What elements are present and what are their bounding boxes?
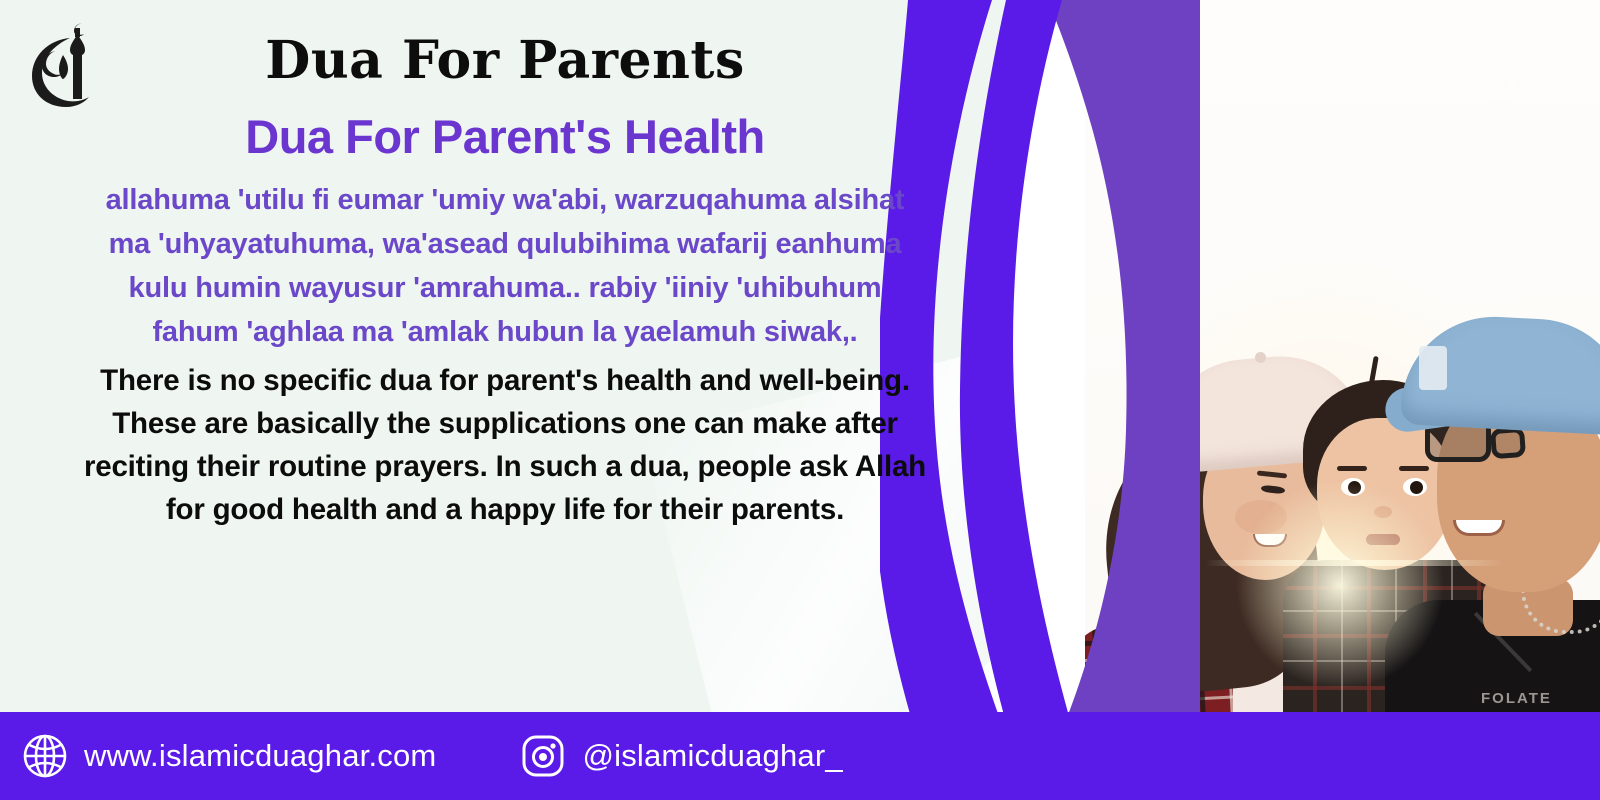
mother-cheek — [1235, 500, 1287, 534]
globe-icon — [22, 733, 68, 779]
section-heading: Dua For Parent's Health — [0, 109, 1010, 164]
child-eyebrow-left — [1337, 466, 1367, 471]
child-eyebrow-right — [1399, 466, 1429, 471]
crescent-minaret-watermark-icon — [1468, 26, 1532, 102]
child-mouth — [1366, 534, 1400, 545]
body-paragraph: There is no specific dua for parent's he… — [78, 360, 932, 531]
website-link[interactable]: www.islamicduaghar.com — [22, 733, 436, 779]
transliteration-text: allahuma 'utilu fi eumar 'umiy wa'abi, w… — [104, 178, 906, 354]
child-pupil-left — [1348, 481, 1361, 494]
instagram-label: @islamicduaghar_ — [582, 738, 842, 774]
dua-poster-card: FOLATE — [0, 0, 1600, 800]
mother-cap-button — [1255, 352, 1266, 363]
father-shirt-text: FOLATE — [1481, 690, 1552, 707]
instagram-link[interactable]: @islamicduaghar_ — [520, 733, 842, 779]
child-nose — [1374, 506, 1392, 518]
father-sunglasses-right — [1490, 427, 1526, 459]
father-smile — [1453, 520, 1505, 536]
text-content: Dua For Parents Dua For Parent's Health … — [0, 0, 1010, 531]
father-cap-patch — [1419, 346, 1447, 390]
instagram-icon — [520, 733, 566, 779]
page-title: Dua For Parents — [0, 30, 1010, 91]
family-photo: FOLATE — [1085, 0, 1600, 800]
footer-bar: www.islamicduaghar.com @islamicduaghar_ — [0, 712, 1600, 800]
child-pupil-right — [1410, 481, 1423, 494]
website-label: www.islamicduaghar.com — [84, 738, 436, 774]
